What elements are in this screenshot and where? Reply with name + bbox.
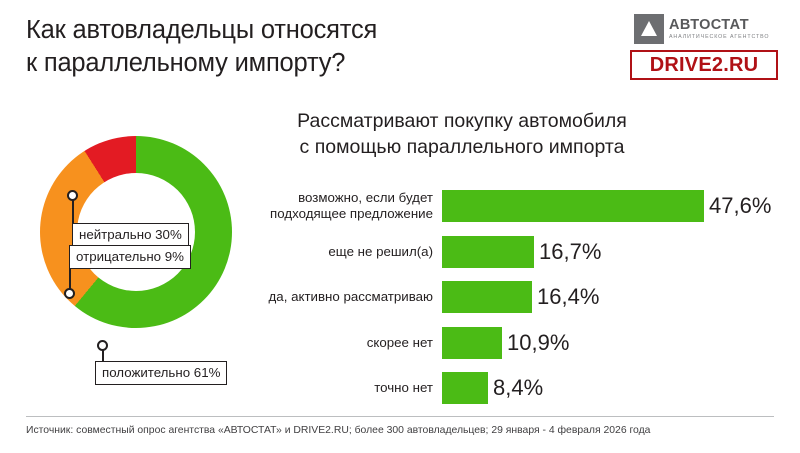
bar-track: 8,4%	[442, 368, 784, 408]
bar-label: скорее нет	[232, 335, 442, 351]
autostat-logo: АВТОСТАТ АНАЛИТИЧЕСКОЕ АГЕНТСТВО	[634, 12, 778, 46]
bar-value: 10,9%	[507, 330, 569, 356]
drive2-wordmark: DRIVE2.RU	[650, 54, 759, 77]
footer-divider	[26, 416, 774, 417]
donut-callout-positive: положительно 61%	[95, 361, 227, 385]
bar-row: еще не решил(а) 16,7%	[232, 232, 784, 272]
bar-track: 16,7%	[442, 232, 784, 272]
donut-callout-dot-positive	[97, 340, 108, 351]
donut-callout-neutral: нейтрально 30%	[72, 223, 189, 247]
autostat-name: АВТОСТАТ	[669, 17, 769, 33]
bar-row: да, активно рассматриваю 16,4%	[232, 277, 784, 317]
source-note: Источник: совместный опрос агентства «АВ…	[26, 424, 782, 438]
bar-fill	[442, 281, 532, 313]
bar-label: еще не решил(а)	[232, 244, 442, 260]
bar-fill	[442, 190, 704, 222]
donut-chart: нейтрально 30% отрицательно 9% положител…	[14, 128, 244, 388]
bar-fill	[442, 236, 534, 268]
autostat-tagline: АНАЛИТИЧЕСКОЕ АГЕНТСТВО	[669, 33, 769, 41]
donut-callout-dot-neutral	[67, 190, 78, 201]
bar-label: да, активно рассматриваю	[232, 289, 442, 305]
drive2-logo: DRIVE2.RU	[630, 50, 778, 80]
bar-track: 47,6%	[442, 186, 784, 226]
bar-value: 16,4%	[537, 284, 599, 310]
bar-chart-title: Рассматривают покупку автомобиля с помощ…	[232, 108, 692, 160]
bar-value: 47,6%	[709, 193, 771, 219]
bar-chart: Рассматривают покупку автомобиля с помощ…	[232, 108, 784, 408]
bar-fill	[442, 372, 488, 404]
autostat-wordmark: АВТОСТАТ АНАЛИТИЧЕСКОЕ АГЕНТСТВО	[669, 17, 769, 41]
donut-callout-dot-negative	[64, 288, 75, 299]
donut-callout-negative: отрицательно 9%	[69, 245, 191, 269]
bar-label: возможно, если будет подходящее предложе…	[232, 190, 442, 222]
bar-row: скорее нет 10,9%	[232, 323, 784, 363]
bar-row: возможно, если будет подходящее предложе…	[232, 186, 784, 226]
bar-track: 10,9%	[442, 323, 784, 363]
bar-value: 16,7%	[539, 239, 601, 265]
bar-value: 8,4%	[493, 375, 543, 401]
bar-row: точно нет 8,4%	[232, 368, 784, 408]
bar-fill	[442, 327, 502, 359]
logo-block: АВТОСТАТ АНАЛИТИЧЕСКОЕ АГЕНТСТВО DRIVE2.…	[630, 12, 778, 80]
page-title: Как автовладельцы относятся к параллельн…	[26, 14, 377, 80]
bar-chart-rows: возможно, если будет подходящее предложе…	[232, 186, 784, 414]
autostat-triangle-icon	[634, 14, 664, 44]
bar-track: 16,4%	[442, 277, 784, 317]
header: Как автовладельцы относятся к параллельн…	[0, 0, 800, 100]
bar-label: точно нет	[232, 380, 442, 396]
